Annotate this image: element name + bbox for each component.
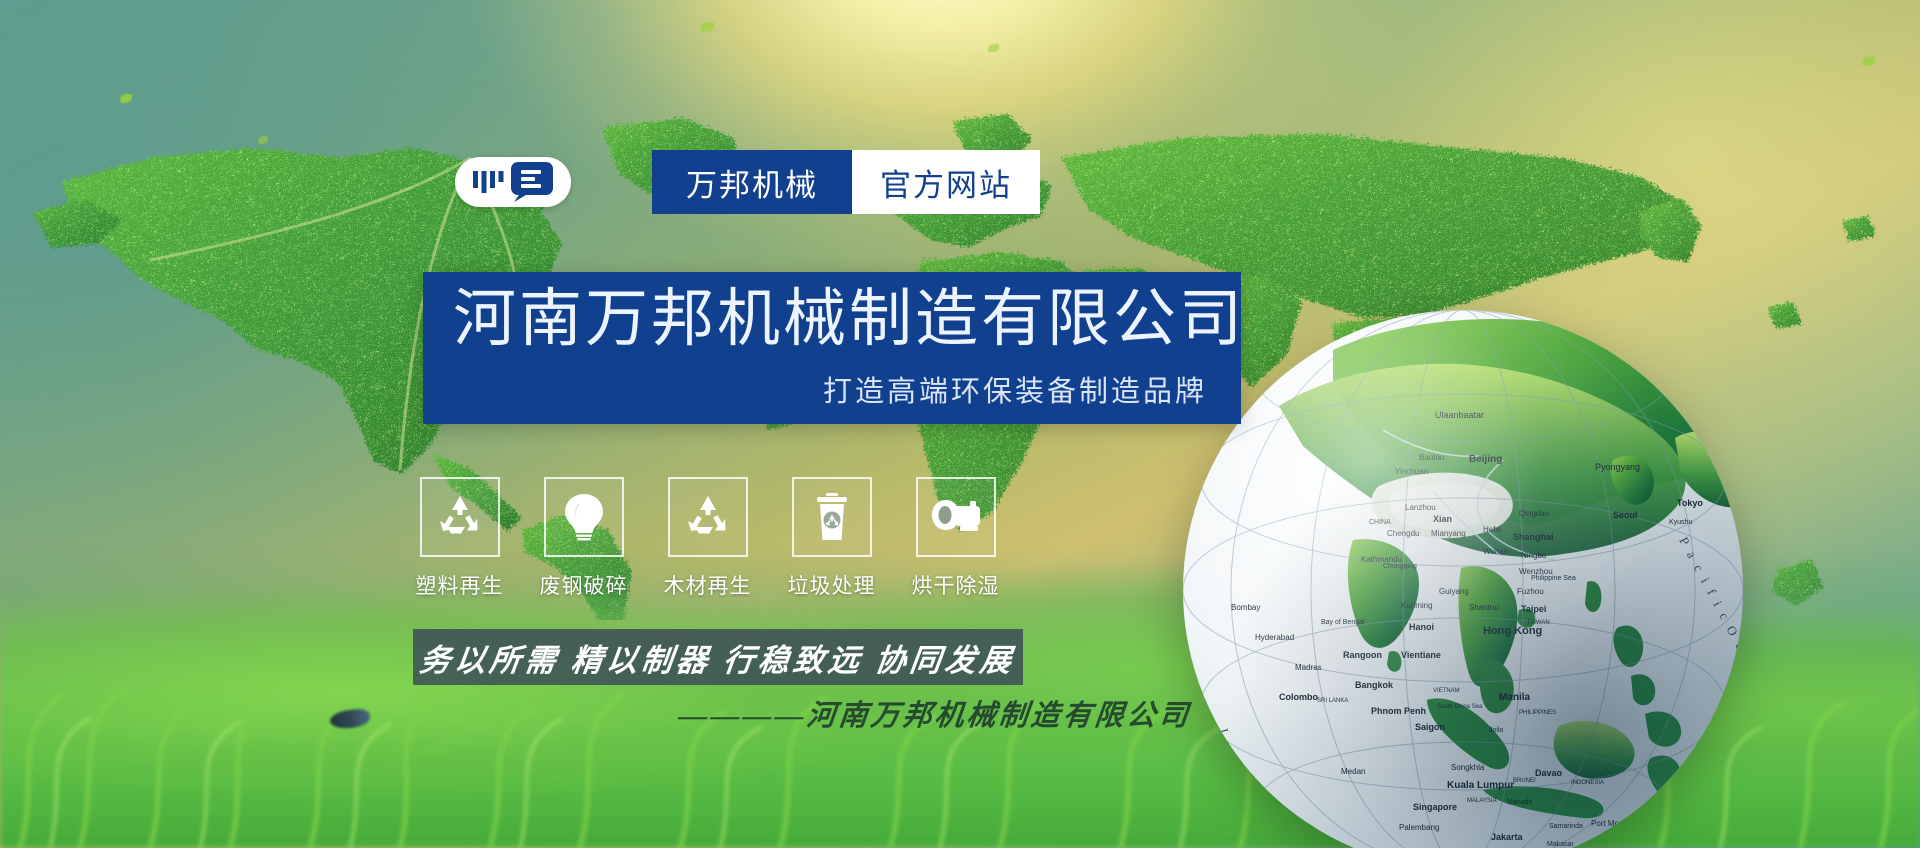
svg-text:Philippine Sea: Philippine Sea: [1531, 575, 1576, 582]
svg-text:Makasar: Makasar: [1547, 841, 1575, 848]
brand-tabs: 万邦机械 官方网站: [652, 150, 1040, 214]
svg-text:Chengdu: Chengdu: [1387, 529, 1419, 538]
svg-text:Hyderabad: Hyderabad: [1255, 633, 1294, 642]
svg-text:PHILIPPINES: PHILIPPINES: [1519, 710, 1556, 716]
recycle-icon: [684, 493, 732, 541]
svg-text:Baotou: Baotou: [1419, 453, 1444, 462]
svg-text:Medan: Medan: [1341, 767, 1365, 776]
svg-text:Singapore: Singapore: [1413, 802, 1457, 812]
svg-text:Beijing: Beijing: [1469, 454, 1502, 465]
svg-text:Bombay: Bombay: [1231, 603, 1260, 612]
feature-icon-box: [544, 477, 624, 557]
feature-label: 烘干除湿: [912, 570, 1000, 600]
hero-banner-stage: Ulaanbaatar Beijing Baotou Yinchuan Lanz…: [0, 0, 1920, 848]
svg-text:MALAYSIA: MALAYSIA: [1467, 798, 1497, 804]
svg-text:Rangoon: Rangoon: [1343, 650, 1382, 660]
svg-text:Qingdao: Qingdao: [1519, 509, 1550, 518]
svg-text:Kunming: Kunming: [1401, 601, 1433, 610]
page-title: 河南万邦机械制造有限公司: [453, 288, 1245, 351]
feature-icon-box: [420, 477, 500, 557]
feature-item-waste-treatment[interactable]: 垃圾处理: [786, 477, 877, 600]
svg-text:Ningbo: Ningbo: [1521, 551, 1547, 560]
svg-text:Iloilo: Iloilo: [1489, 727, 1504, 734]
lightbulb-icon: [562, 492, 606, 542]
svg-text:Davao: Davao: [1535, 768, 1563, 778]
svg-text:Chongqing: Chongqing: [1383, 563, 1417, 570]
svg-text:Shantou: Shantou: [1469, 603, 1499, 612]
svg-text:Vientiane: Vientiane: [1401, 650, 1441, 660]
dryer-machine-icon: [930, 497, 982, 537]
trash-bin-recycle-icon: [813, 492, 851, 542]
svg-text:Saigon: Saigon: [1415, 722, 1445, 732]
feature-item-drying-dehumidifying[interactable]: 烘干除湿: [910, 477, 1001, 600]
svg-text:Hong Kong: Hong Kong: [1483, 625, 1542, 637]
feature-item-plastic-recycling[interactable]: 塑料再生: [414, 477, 505, 600]
feature-icon-box: [916, 477, 996, 557]
svg-text:Songkhla: Songkhla: [1451, 763, 1485, 772]
svg-text:Tokyo: Tokyo: [1677, 498, 1703, 508]
svg-text:Fuzhou: Fuzhou: [1517, 587, 1544, 596]
svg-text:Wuhan: Wuhan: [1483, 547, 1508, 556]
svg-text:Port Moresby: Port Moresby: [1591, 819, 1639, 828]
recycle-icon: [436, 493, 484, 541]
svg-text:Seoul: Seoul: [1613, 510, 1638, 520]
svg-text:Yinchuan: Yinchuan: [1395, 467, 1428, 476]
svg-text:Ulaanbaatar: Ulaanbaatar: [1435, 410, 1484, 420]
svg-text:Lanzhou: Lanzhou: [1405, 503, 1436, 512]
svg-text:Hefei: Hefei: [1483, 525, 1502, 534]
svg-text:Taipei: Taipei: [1521, 604, 1546, 614]
company-logo[interactable]: [455, 157, 571, 207]
svg-text:Manila: Manila: [1499, 692, 1531, 703]
svg-text:BRUNEI: BRUNEI: [1513, 778, 1536, 784]
svg-text:Xian: Xian: [1433, 514, 1452, 524]
feature-icon-box: [792, 477, 872, 557]
svg-text:Kuala Lumpur: Kuala Lumpur: [1447, 780, 1514, 791]
svg-text:VIETNAM: VIETNAM: [1433, 688, 1460, 694]
globe-graphic: Ulaanbaatar Beijing Baotou Yinchuan Lanz…: [1183, 310, 1743, 848]
feature-item-scrap-steel-crushing[interactable]: 废钢破碎: [538, 477, 629, 600]
svg-text:Madras: Madras: [1295, 663, 1322, 672]
hero-banner: 河南万邦机械制造有限公司 打造高端环保装备制造品牌: [423, 272, 1241, 424]
feature-list: 塑料再生 废钢破碎: [414, 477, 1001, 600]
feature-label: 木材再生: [664, 570, 752, 600]
page-subtitle: 打造高端环保装备制造品牌: [823, 368, 1207, 410]
feature-item-wood-recycling[interactable]: 木材再生: [662, 477, 753, 600]
svg-text:Mianyang: Mianyang: [1431, 529, 1466, 538]
svg-text:Shanghai: Shanghai: [1513, 532, 1554, 542]
svg-text:Guiyang: Guiyang: [1439, 587, 1469, 596]
svg-text:Phnom Penh: Phnom Penh: [1371, 706, 1426, 716]
svg-text:Bay of Bengal: Bay of Bengal: [1321, 619, 1365, 626]
svg-text:Hanoi: Hanoi: [1409, 622, 1434, 632]
svg-text:INDONESIA: INDONESIA: [1571, 780, 1604, 786]
svg-text:CHINA: CHINA: [1369, 519, 1391, 526]
brand-tab-official-site[interactable]: 官方网站: [852, 150, 1040, 214]
svg-text:Palembang: Palembang: [1399, 823, 1439, 832]
feature-label: 塑料再生: [416, 570, 504, 600]
svg-text:Bangkok: Bangkok: [1355, 680, 1394, 690]
svg-text:South China Sea: South China Sea: [1437, 704, 1483, 710]
svg-text:Jakarta: Jakarta: [1491, 832, 1524, 842]
svg-text:Colombo: Colombo: [1279, 692, 1318, 702]
brand-tab-company[interactable]: 万邦机械: [652, 150, 852, 214]
slogan-text: 务以所需 精以制器 行稳致远 协同发展: [418, 635, 1019, 680]
feature-icon-box: [668, 477, 748, 557]
w-mark-icon: [472, 167, 506, 197]
svg-text:SRI LANKA: SRI LANKA: [1317, 698, 1348, 704]
slogan-signature: ————河南万邦机械制造有限公司: [653, 692, 1217, 734]
slogan-bar: 务以所需 精以制器 行稳致远 协同发展: [413, 629, 1023, 685]
svg-text:Manado: Manado: [1507, 799, 1532, 806]
speech-bubble-e-icon: [510, 161, 554, 203]
svg-text:Kyushu: Kyushu: [1669, 519, 1692, 526]
feature-label: 垃圾处理: [788, 570, 876, 600]
svg-text:Samarinda: Samarinda: [1549, 823, 1583, 830]
svg-text:Pyongyang: Pyongyang: [1595, 462, 1640, 472]
feature-label: 废钢破碎: [540, 570, 628, 600]
